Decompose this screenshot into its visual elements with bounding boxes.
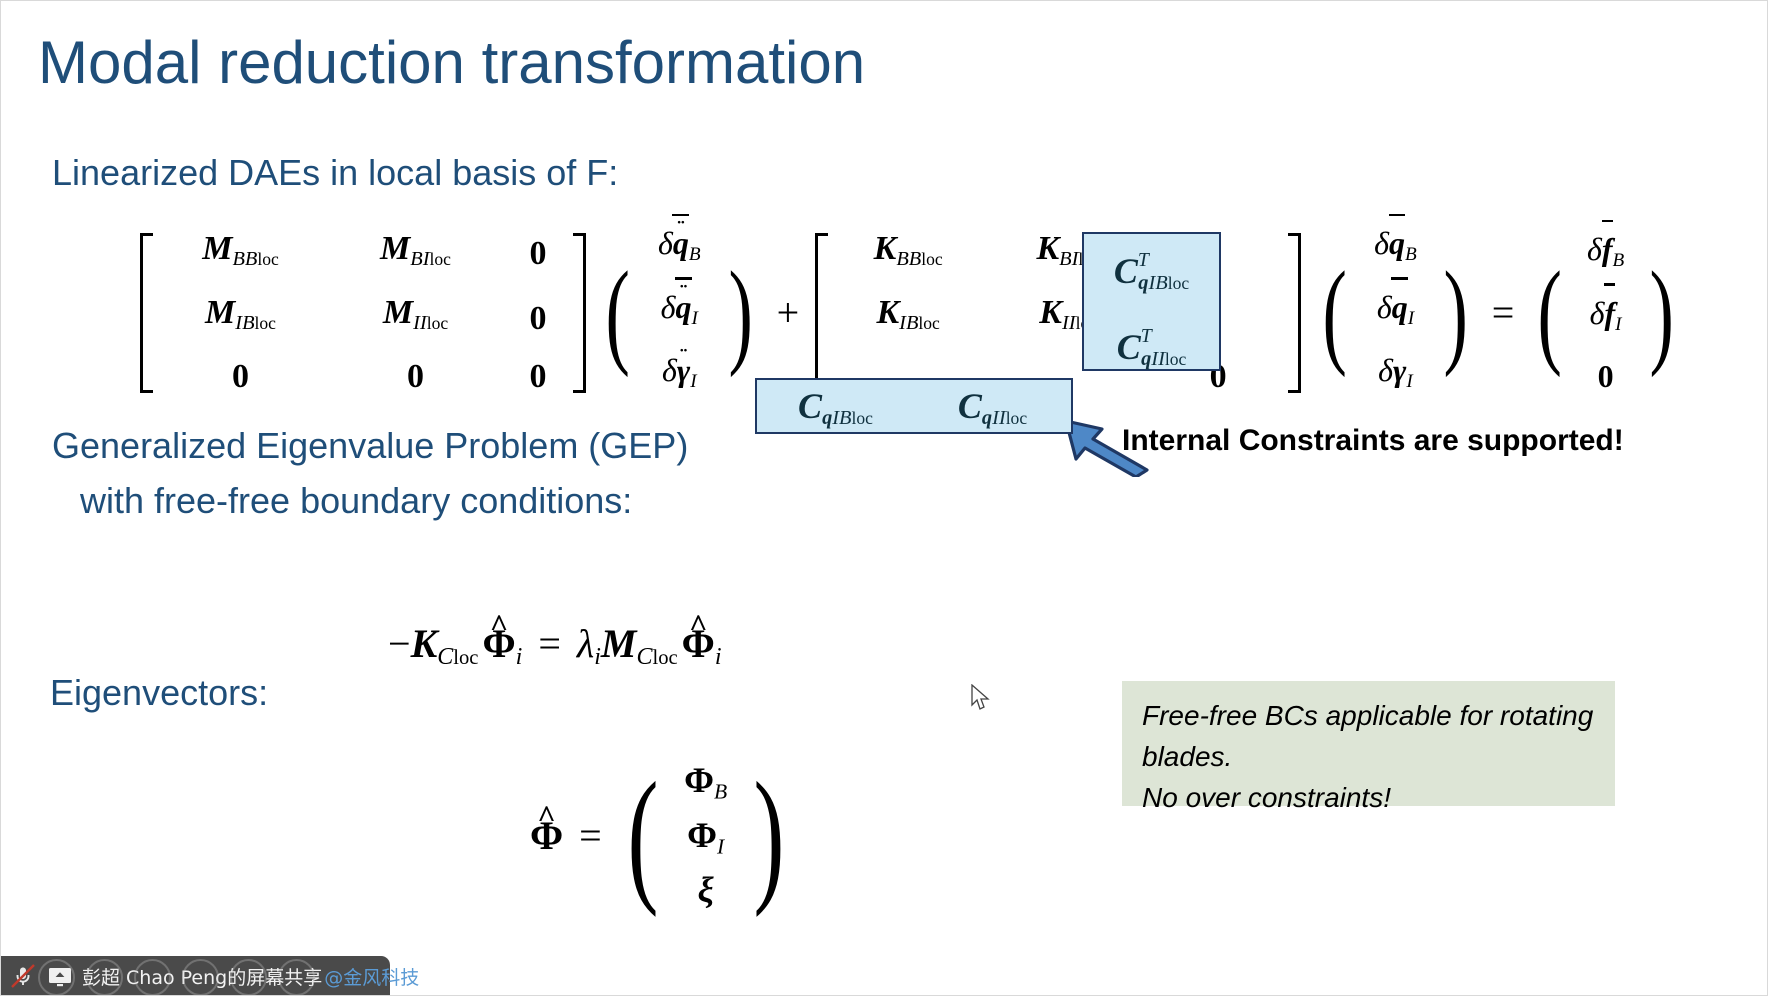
equation-eigenvector-partition: ^Φ = ( ΦB ΦI ξ ) — [530, 770, 794, 900]
acceleration-vector: ( δ¨qB δ¨qI δ¨γI ) — [598, 225, 761, 400]
equation-linearized-daes: MBBloc MBIloc 0 MIBloc MIIloc 0 0 0 0 ( … — [140, 225, 1681, 400]
cell-zero-5: 0 — [528, 350, 549, 403]
cell-zero-3: 0 — [230, 350, 251, 403]
highlight-col-inner: CTqIBloc CTqIIloc — [1084, 234, 1219, 369]
paren-left-3: ( — [1323, 276, 1347, 349]
bracket-right — [573, 233, 586, 393]
note-box-text: Free-free BCs applicable for rotating bl… — [1142, 695, 1615, 818]
paren-left: ( — [605, 276, 629, 349]
stiffness-matrix: KBBloc KBIloc KIBloc KIIloc 0 — [815, 225, 1301, 400]
cq-ib-transpose: CTqIBloc — [1112, 234, 1191, 310]
bracket-left-2 — [815, 233, 828, 393]
minus-sign: − — [388, 621, 411, 666]
screen-share-handle: @金风科技 — [324, 963, 419, 990]
subheading-eigenvectors: Eigenvectors: — [50, 672, 268, 714]
cell-df-b: δfB — [1587, 223, 1624, 287]
presentation-slide: Modal reduction transformation Linearize… — [0, 0, 1768, 996]
operator-equals: = — [1476, 289, 1531, 336]
cq-ii: CqIIloc — [956, 380, 1029, 445]
phi-vector-grid: ΦB ΦI ξ — [668, 758, 744, 913]
page-title: Modal reduction transformation — [38, 28, 865, 97]
disp-vector-grid: δqB δqI δγI — [1354, 217, 1436, 408]
cell-k-ib: KIBloc — [874, 286, 941, 350]
callout-internal-constraints: Internal Constraints are supported! — [1122, 424, 1624, 458]
force-vector-grid: δfB δfI 0 — [1570, 223, 1642, 403]
bracket-left — [140, 233, 153, 393]
phi-equals: = — [563, 812, 618, 859]
cell-m-bb: MBBloc — [200, 222, 281, 286]
cell-zero-2: 0 — [528, 292, 549, 345]
subheading-linearized-daes: Linearized DAEs in local basis of F: — [52, 152, 618, 194]
cell-phi-b: ΦB — [684, 758, 727, 813]
cell-zero-1: 0 — [528, 227, 549, 280]
cell-dq-i: δqI — [1377, 281, 1414, 345]
highlight-constraint-transpose-column: CTqIBloc CTqIIloc — [1082, 232, 1221, 371]
operator-plus: + — [761, 289, 816, 336]
cell-zero-7: 0 — [1598, 350, 1614, 402]
bracket-right-2 — [1288, 233, 1301, 393]
paren-left-4: ( — [1538, 276, 1562, 349]
eig-equals: = — [522, 621, 577, 666]
highlight-row-inner: CqIBloc CqIIloc — [757, 380, 1071, 432]
mass-matrix-grid: MBBloc MBIloc 0 MIBloc MIIloc 0 0 0 0 — [153, 222, 573, 403]
subheading-boundary-conditions: with free-free boundary conditions: — [80, 480, 632, 522]
cell-m-ib: MIBloc — [203, 286, 278, 350]
paren-right-3: ) — [1444, 276, 1468, 349]
accel-vector-grid: δ¨qB δ¨qI δ¨γI — [637, 217, 721, 408]
paren-left-5: ( — [627, 789, 658, 882]
screen-share-taskbar[interactable]: 彭超 Chao Peng的屏幕共享 @金风科技 — [0, 956, 390, 996]
cell-dgamma-i: δγI — [1378, 344, 1413, 408]
phi-vector: ( ΦB ΦI ξ ) — [618, 770, 794, 900]
cell-m-bi: MBIloc — [378, 222, 453, 286]
taskbar-decorative-dots — [38, 959, 315, 996]
highlight-constraint-row: CqIBloc CqIIloc — [755, 378, 1073, 434]
mass-matrix: MBBloc MBIloc 0 MIBloc MIIloc 0 0 0 0 — [140, 225, 586, 400]
paren-right-5: ) — [753, 789, 784, 882]
cq-ii-transpose: CTqIIloc — [1115, 310, 1189, 386]
cell-m-ii: MIIloc — [381, 286, 450, 350]
paren-right: ) — [729, 276, 753, 349]
cell-xi: ξ — [698, 868, 714, 912]
microphone-muted-icon[interactable] — [8, 961, 38, 991]
cell-k-bb: KBBloc — [872, 222, 945, 286]
cell-df-i: δfI — [1590, 287, 1622, 351]
force-vector: ( δfB δfI 0 ) — [1530, 225, 1681, 400]
cell-dq-b: δqB — [1374, 217, 1417, 281]
note-box-free-free: Free-free BCs applicable for rotating bl… — [1122, 681, 1615, 806]
cell-ddgamma-i: δ¨γI — [662, 344, 697, 408]
phi-hat: ^Φ — [530, 812, 563, 859]
equation-generalized-eigenvalue: −KCloc^Φi=λiMCloc^Φi — [388, 620, 722, 671]
cell-phi-i: ΦI — [687, 813, 724, 868]
screen-share-icon[interactable] — [45, 961, 75, 991]
cq-ib: CqIBloc — [796, 380, 875, 445]
mouse-pointer-icon — [971, 684, 991, 712]
paren-right-4: ) — [1649, 276, 1673, 349]
subheading-gep: Generalized Eigenvalue Problem (GEP) — [52, 425, 688, 467]
cell-zero-4: 0 — [405, 350, 426, 403]
displacement-vector: ( δqB δqI δγI ) — [1315, 225, 1476, 400]
